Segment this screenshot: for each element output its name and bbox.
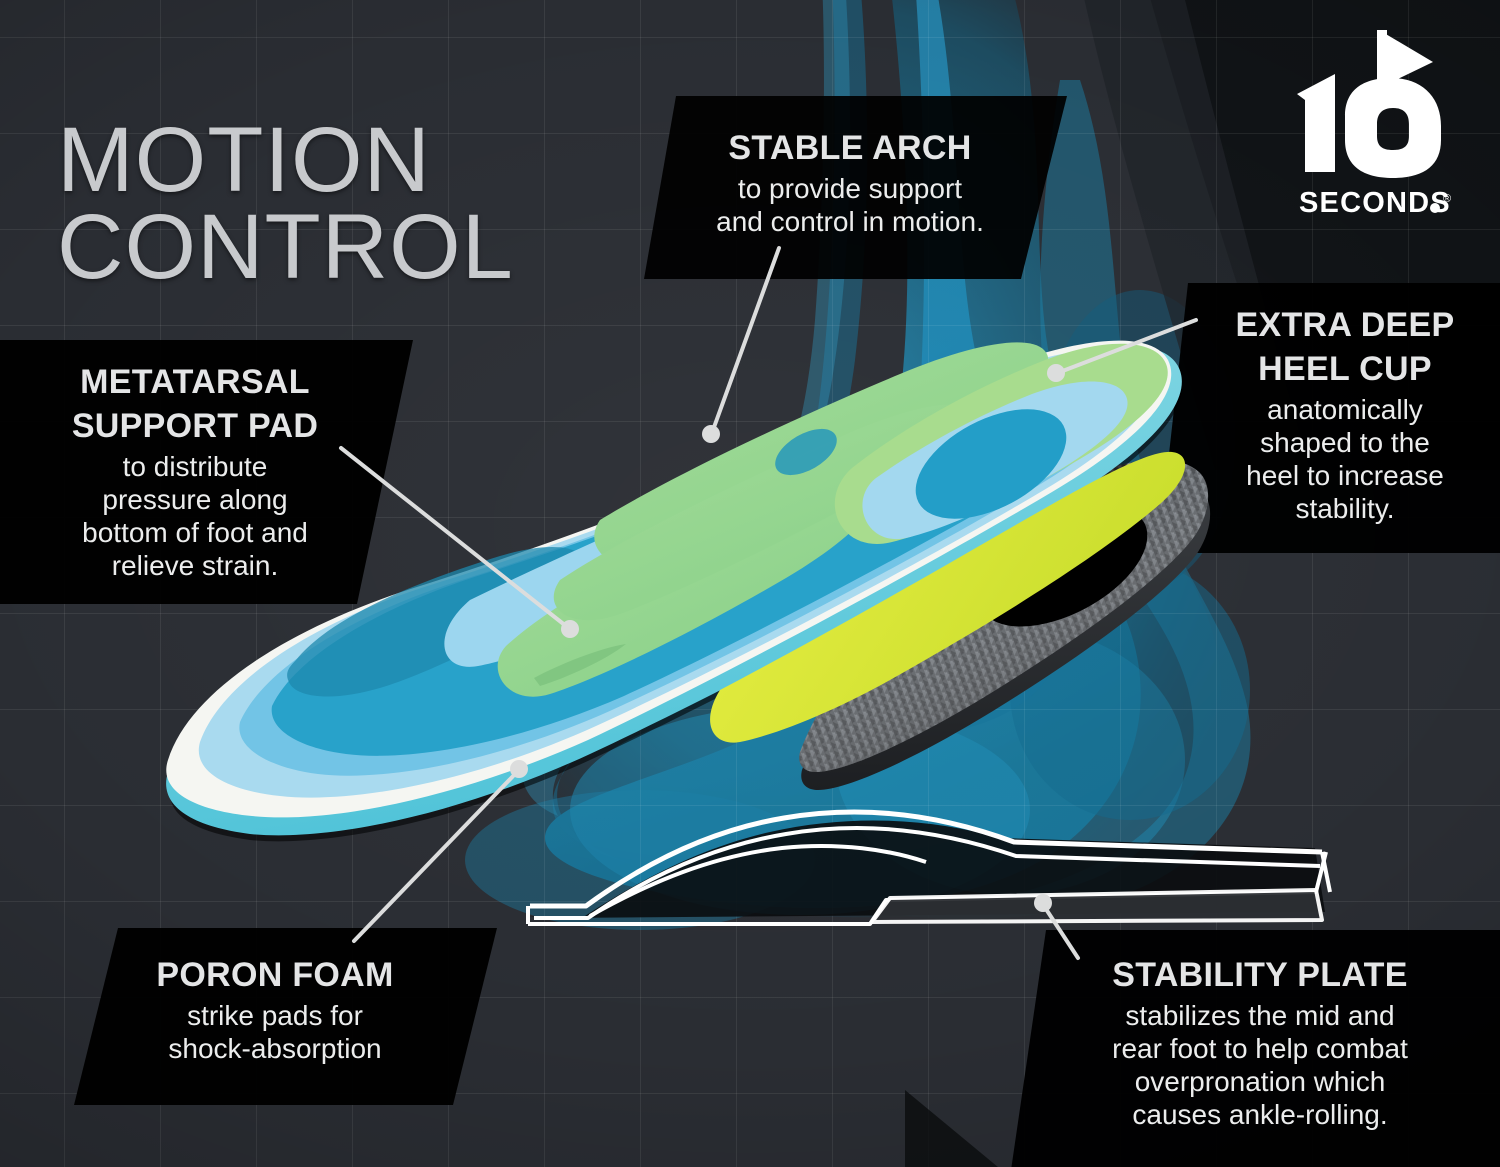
callout-line: heel to increase	[1200, 459, 1490, 492]
callout-stability-title: STABILITY PLATE	[1060, 955, 1460, 995]
callout-stability-body: stabilizes the mid and rear foot to help…	[1060, 999, 1460, 1131]
callout-extra-deep-heel-cup: EXTRA DEEP HEEL CUP anatomically shaped …	[1200, 305, 1490, 525]
page-title-line-2: CONTROL	[57, 204, 514, 291]
callout-line: bottom of foot and	[30, 516, 360, 549]
logo-registered-mark: ®	[1443, 193, 1451, 205]
leader-dot-heel-cup	[1047, 364, 1065, 382]
logo-wordmark: SECONDS	[1299, 187, 1451, 219]
callout-line: overpronation which	[1060, 1065, 1460, 1098]
callout-line: to distribute	[30, 450, 360, 483]
callout-line: shaped to the	[1200, 426, 1490, 459]
leader-dot-metatarsal	[561, 620, 579, 638]
callout-stable-arch-title: STABLE ARCH	[680, 128, 1020, 168]
callout-metatarsal-body: to distribute pressure along bottom of f…	[30, 450, 360, 582]
callout-heel-cup-title-line-1: EXTRA DEEP	[1200, 305, 1490, 345]
logo-period	[1430, 203, 1440, 213]
leader-line-stable-arch	[713, 248, 779, 430]
leader-dot-stability-plate	[1034, 894, 1052, 912]
callout-heel-cup-title-line-2: HEEL CUP	[1200, 349, 1490, 389]
callout-line: shock-absorption	[100, 1032, 450, 1065]
leader-dot-stable-arch	[702, 425, 720, 443]
leader-line-heel-cup	[1060, 320, 1196, 372]
callout-stable-arch-body: to provide support and control in motion…	[680, 172, 1020, 238]
callout-poron-title: PORON FOAM	[100, 955, 450, 995]
callout-line: rear foot to help combat	[1060, 1032, 1460, 1065]
callout-line: anatomically	[1200, 393, 1490, 426]
logo-digit-one	[1297, 74, 1335, 172]
callout-poron-foam: PORON FOAM strike pads for shock-absorpt…	[100, 955, 450, 1065]
leader-dot-poron	[510, 760, 528, 778]
page-title: MOTION CONTROL	[57, 117, 514, 292]
callout-line: strike pads for	[100, 999, 450, 1032]
brand-logo: SECONDS ®	[1283, 22, 1463, 222]
ten-seconds-logo-mark: SECONDS ®	[1283, 22, 1463, 222]
callout-line: causes ankle-rolling.	[1060, 1098, 1460, 1131]
callout-heel-cup-body: anatomically shaped to the heel to incre…	[1200, 393, 1490, 525]
callout-stable-arch: STABLE ARCH to provide support and contr…	[680, 128, 1020, 238]
infographic-canvas: MOTION CONTROL SECONDS ® STABLE ARCH to …	[0, 0, 1500, 1167]
callout-metatarsal-title-line-1: METATARSAL	[30, 362, 360, 402]
callout-line: and control in motion.	[680, 205, 1020, 238]
callout-line: pressure along	[30, 483, 360, 516]
logo-digit-zero	[1345, 78, 1441, 178]
callout-stability-plate: STABILITY PLATE stabilizes the mid and r…	[1060, 955, 1460, 1131]
leader-line-poron	[354, 772, 517, 941]
callout-metatarsal-title-line-2: SUPPORT PAD	[30, 406, 360, 446]
leader-line-metatarsal	[341, 448, 566, 626]
callout-metatarsal-support-pad: METATARSAL SUPPORT PAD to distribute pre…	[30, 362, 360, 582]
leader-line-stability-plate	[1044, 906, 1078, 958]
callout-line: relieve strain.	[30, 549, 360, 582]
callout-line: stability.	[1200, 492, 1490, 525]
callout-line: to provide support	[680, 172, 1020, 205]
page-title-line-1: MOTION	[57, 117, 514, 204]
callout-poron-body: strike pads for shock-absorption	[100, 999, 450, 1065]
callout-line: stabilizes the mid and	[1060, 999, 1460, 1032]
